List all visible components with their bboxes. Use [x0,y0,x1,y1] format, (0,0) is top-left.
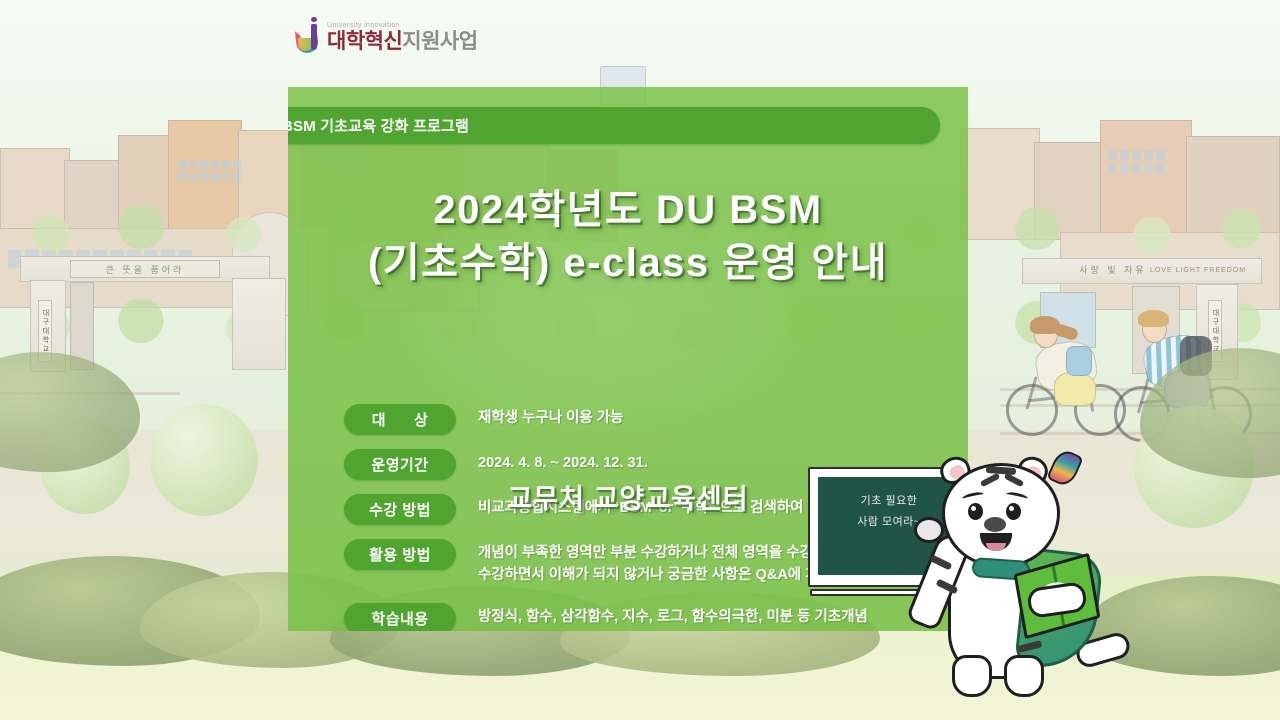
info-row-value-line1: 2024. 4. 8. ~ 2024. 12. 31. [478,455,648,471]
tiger-mascot: x/y [900,455,1115,715]
program-badge: BSM 기초교육 강화 프로그램 [288,107,940,144]
info-row-value-line1: 재학생 누구나 이용 가능 [478,410,624,426]
info-row: 대 상 재학생 누구나 이용 가능 [344,404,968,435]
building-windows [178,160,241,181]
poster-canvas: 큰 뜻을 품어라 대구대학교 사랑 빛 자유 LOVE LIGHT FREEDO… [0,0,1280,720]
info-row-value: 재학생 누구나 이용 가능 [456,404,968,429]
gate-sign-right-ko: 사랑 빛 자유 [1078,261,1148,278]
info-row-label: 운영기간 [344,449,456,480]
logo-korean-primary: 대학혁신 [327,30,402,53]
campus-gate-left-booth [232,278,286,370]
mascot-leg-left [952,655,992,697]
logo-korean-text: 대학혁신지원사업 [327,31,478,52]
rider-legs [1054,372,1096,406]
info-row-label: 학습내용 [344,603,456,631]
poster-title: 2024학년도 DU BSM (기초수학) e-class 운영 안내 [288,184,968,290]
mascot-raised-paw [914,517,944,543]
title-line-1: 2024학년도 DU BSM [288,184,968,237]
mascot-nose [984,517,1006,532]
mascot-eye-right [1006,503,1021,520]
uj-logo-icon [296,23,322,53]
logo-korean-secondary: 지원사업 [402,30,477,53]
info-row-label: 대 상 [344,404,456,435]
logo-english-text: University innovation [327,22,478,29]
rider-hair [1138,310,1169,327]
foreground-tree [150,404,258,516]
logo-j-shape [311,24,317,50]
info-row-label: 활용 방법 [344,539,456,570]
building-windows [1108,150,1165,173]
mascot-scene: 기초 필요한 사람 모여라~ [800,455,1130,720]
university-innovation-logo: University innovation 대학혁신지원사업 [296,22,478,53]
mascot-eye-left [968,503,983,520]
rider-backpack [1066,346,1092,376]
mascot-head [942,463,1060,567]
gate-sign-left: 큰 뜻을 품어라 [70,260,220,278]
logo-text-block: University innovation 대학혁신지원사업 [327,22,478,53]
title-line-2: (기초수학) e-class 운영 안내 [288,237,968,290]
gate-sign-right-en: LOVE LIGHT FREEDOM [1150,262,1246,278]
mascot-leg-right [1004,655,1044,697]
